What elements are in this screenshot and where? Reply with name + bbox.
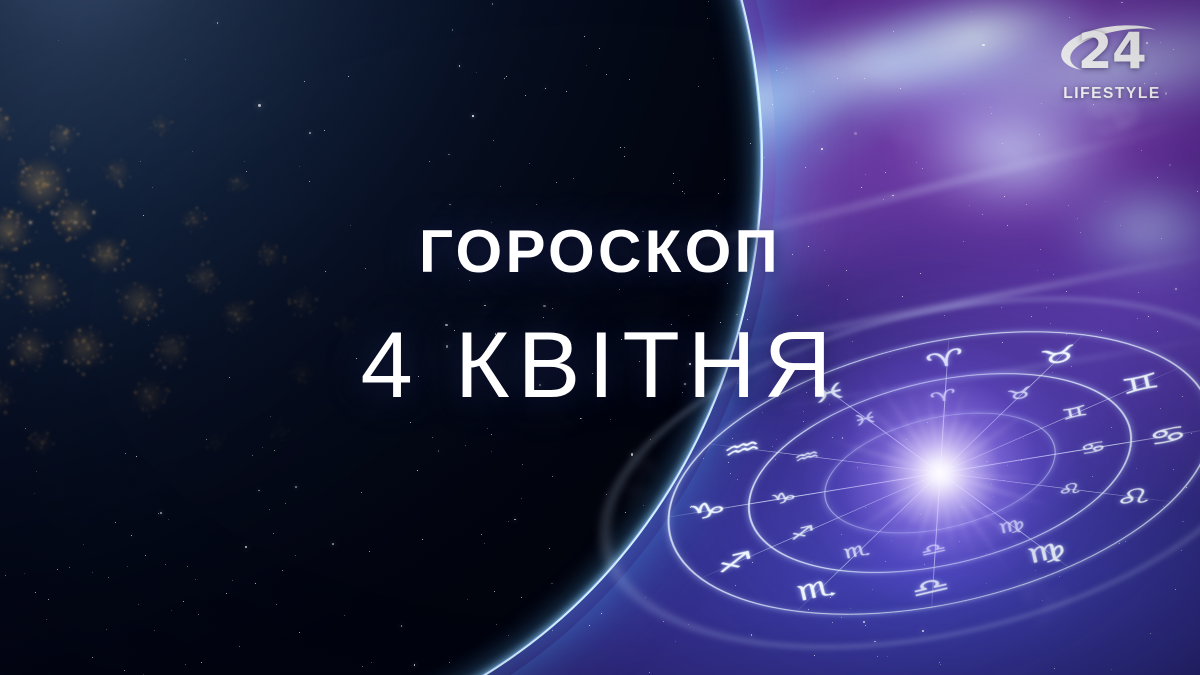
date-subtitle: 4 КВІТНЯ (0, 318, 1200, 412)
logo-mark: 24 (1046, 24, 1178, 84)
logo-subtitle: LIFESTYLE (1046, 86, 1178, 102)
page-title: ГОРОСКОП (0, 222, 1200, 282)
horoscope-banner: ♋ ♑ ♐ ♓ ♈♈♉♉♊♊♋♋♌♌♍♍♎♎♏♏♐♐♑♑♒♒♓♓ ГОРОСКО… (0, 0, 1200, 675)
brand-logo[interactable]: 24 LIFESTYLE (1046, 24, 1178, 110)
logo-number: 24 (1046, 26, 1178, 76)
